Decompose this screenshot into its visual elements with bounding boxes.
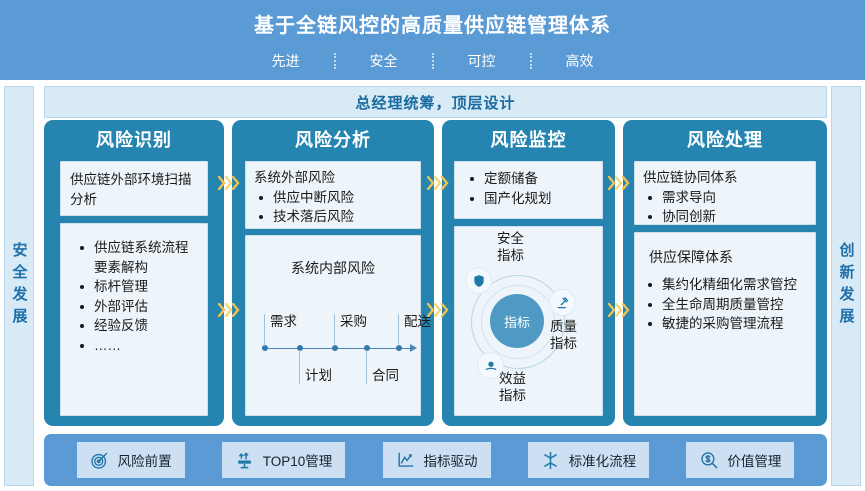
column-4-card-1: 供应链协同体系 需求导向 协同创新 [634, 161, 816, 225]
list-item: 供应链系统流程要素解构 [92, 238, 199, 277]
column-1-card-1: 供应链外部环境扫描分析 [60, 161, 208, 216]
column-risk-identification[interactable]: 风险识别 供应链外部环境扫描分析 供应链系统流程要素解构 标杆管理 外部评估 经… [44, 120, 224, 426]
bottom-chip-value-management[interactable]: 价值管理 [686, 442, 794, 478]
bottom-capability-bar: 风险前置 TOP10管理 指 [44, 434, 827, 486]
column-4-bullet-list-2: 集约化精细化需求管控 全生命周期质量管控 敏捷的采购管理流程 [643, 275, 807, 334]
timeline-tick [366, 350, 367, 384]
dial-label-benefit-line1: 效益 [499, 371, 526, 388]
side-panel-right: 创新发展 [831, 86, 861, 486]
list-item: 国产化规划 [482, 189, 596, 209]
column-1-title: 风险识别 [52, 120, 216, 158]
bottom-chip-indicator-driven[interactable]: 指标驱动 [383, 442, 491, 478]
list-item: 标杆管理 [92, 277, 199, 297]
timeline-label-above-0: 需求 [270, 310, 297, 330]
side-panel-right-label: 创新发展 [839, 242, 854, 330]
dial-label-safety: 安全 指标 [497, 231, 524, 265]
flow-arrow-icon [427, 176, 449, 190]
indicator-dial: 指标 [455, 227, 604, 417]
column-2-card-1: 系统外部风险 供应中断风险 技术落后风险 [245, 161, 421, 229]
list-item: 技术落后风险 [271, 207, 412, 227]
column-2-card-2: 系统内部风险 需求 采购 配送 [245, 235, 421, 416]
timeline-tick [398, 314, 399, 346]
magnifier-dollar-icon [699, 450, 719, 470]
column-4-card-2-heading: 供应保障体系 [649, 247, 807, 267]
column-2-card-2-heading: 系统内部风险 [252, 258, 414, 278]
column-3-card-1: 定额储备 国产化规划 [454, 161, 603, 219]
column-4-card-2: 供应保障体系 集约化精细化需求管控 全生命周期质量管控 敏捷的采购管理流程 [634, 232, 816, 416]
timeline-arrowhead-icon [410, 344, 417, 352]
podium-icon [235, 450, 255, 470]
dial-label-benefit: 效益 指标 [499, 371, 526, 405]
header-tag-list: 先进 安全 可控 高效 [0, 48, 865, 74]
strategy-bar-label: 总经理统筹，顶层设计 [355, 92, 515, 113]
column-3-card-2: 指标 [454, 226, 603, 416]
list-item: …… [92, 336, 199, 356]
dial-label-benefit-line2: 指标 [499, 388, 526, 405]
header-tag-separator [530, 53, 532, 69]
timeline-dot [262, 345, 268, 351]
timeline-dot [364, 345, 370, 351]
column-4-title: 风险处理 [631, 120, 819, 158]
timeline-dot [396, 345, 402, 351]
list-item: 集约化精细化需求管控 [660, 275, 807, 295]
timeline-tick [299, 350, 300, 384]
dial-label-quality-line2: 指标 [550, 336, 577, 353]
dial-center-label: 指标 [490, 294, 544, 348]
timeline-label-above-1: 采购 [340, 310, 367, 330]
column-4-bullet-list-1: 需求导向 协同创新 [643, 188, 807, 227]
list-item: 协同创新 [660, 207, 807, 227]
bottom-chip-risk-preposition[interactable]: 风险前置 [77, 442, 185, 478]
flow-arrow-icon [427, 303, 449, 317]
flow-arrow-icon [218, 303, 240, 317]
header-tag-3: 高效 [532, 51, 628, 71]
column-1-card-2: 供应链系统流程要素解构 标杆管理 外部评估 经验反馈 …… [60, 223, 208, 416]
column-risk-handling[interactable]: 风险处理 供应链协同体系 需求导向 协同创新 供应保障体系 集约化精细化需求管控… [623, 120, 827, 426]
dial-label-quality-line1: 质量 [550, 319, 577, 336]
header-banner: 基于全链风控的高质量供应链管理体系 先进 安全 可控 高效 [0, 0, 865, 80]
column-1-card-1-text: 供应链外部环境扫描分析 [70, 170, 198, 209]
column-1-bullet-list: 供应链系统流程要素解构 标杆管理 外部评估 经验反馈 …… [75, 238, 199, 355]
process-node-icon [541, 450, 561, 470]
list-item: 供应中断风险 [271, 188, 412, 208]
list-item: 需求导向 [660, 188, 807, 208]
header-tag-separator [334, 53, 336, 69]
strategy-bar: 总经理统筹，顶层设计 [44, 86, 827, 118]
timeline-tick [264, 314, 265, 346]
header-tag-0: 先进 [238, 51, 334, 71]
header-tag-1: 安全 [336, 51, 432, 71]
timeline-tick [334, 314, 335, 346]
bottom-chip-label: 指标驱动 [424, 450, 478, 470]
flow-arrow-icon [608, 176, 630, 190]
timeline-dot [332, 345, 338, 351]
list-item: 敏捷的采购管理流程 [660, 314, 807, 334]
column-2-bullet-list: 供应中断风险 技术落后风险 [254, 188, 412, 227]
column-risk-monitoring[interactable]: 风险监控 定额储备 国产化规划 指标 [442, 120, 615, 426]
bottom-chip-standard-process[interactable]: 标准化流程 [528, 442, 650, 478]
column-3-title: 风险监控 [450, 120, 607, 158]
bottom-chip-top10-management[interactable]: TOP10管理 [222, 442, 346, 478]
columns-area: 风险识别 供应链外部环境扫描分析 供应链系统流程要素解构 标杆管理 外部评估 经… [44, 120, 827, 426]
dial-label-safety-line1: 安全 [497, 231, 524, 248]
supply-chain-timeline: 需求 采购 配送 计划 合同 [252, 286, 414, 396]
column-2-title: 风险分析 [240, 120, 426, 158]
side-panel-left-label: 安全发展 [12, 242, 27, 330]
list-item: 全生命周期质量管控 [660, 295, 807, 315]
bottom-chip-label: 标准化流程 [569, 450, 637, 470]
dial-label-safety-line2: 指标 [497, 248, 524, 265]
list-item: 定额储备 [482, 169, 596, 189]
timeline-label-below-0: 计划 [305, 364, 332, 384]
target-icon [90, 450, 110, 470]
bottom-chip-label: 风险前置 [118, 450, 172, 470]
bottom-chip-label: 价值管理 [727, 450, 781, 470]
header-tag-2: 可控 [434, 51, 530, 71]
column-risk-analysis[interactable]: 风险分析 系统外部风险 供应中断风险 技术落后风险 系统内部风险 [232, 120, 434, 426]
dial-label-quality: 质量 指标 [550, 319, 577, 353]
timeline-dot [297, 345, 303, 351]
infographic-root: 基于全链风控的高质量供应链管理体系 先进 安全 可控 高效 安全发展 创新发展 … [0, 0, 865, 491]
chart-line-icon [396, 450, 416, 470]
flow-arrow-icon [608, 303, 630, 317]
side-panel-left: 安全发展 [4, 86, 34, 486]
timeline-label-below-1: 合同 [372, 364, 399, 384]
list-item: 外部评估 [92, 297, 199, 317]
header-tag-separator [432, 53, 434, 69]
shield-icon [465, 267, 492, 294]
column-3-bullet-list: 定额储备 国产化规划 [465, 169, 596, 208]
column-4-card-1-heading: 供应链协同体系 [643, 168, 807, 188]
list-item: 经验反馈 [92, 316, 199, 336]
flow-arrow-icon [218, 176, 240, 190]
column-2-card-1-heading: 系统外部风险 [254, 168, 412, 188]
gavel-icon [549, 289, 576, 316]
bottom-chip-label: TOP10管理 [263, 450, 333, 470]
page-title: 基于全链风控的高质量供应链管理体系 [0, 9, 865, 38]
